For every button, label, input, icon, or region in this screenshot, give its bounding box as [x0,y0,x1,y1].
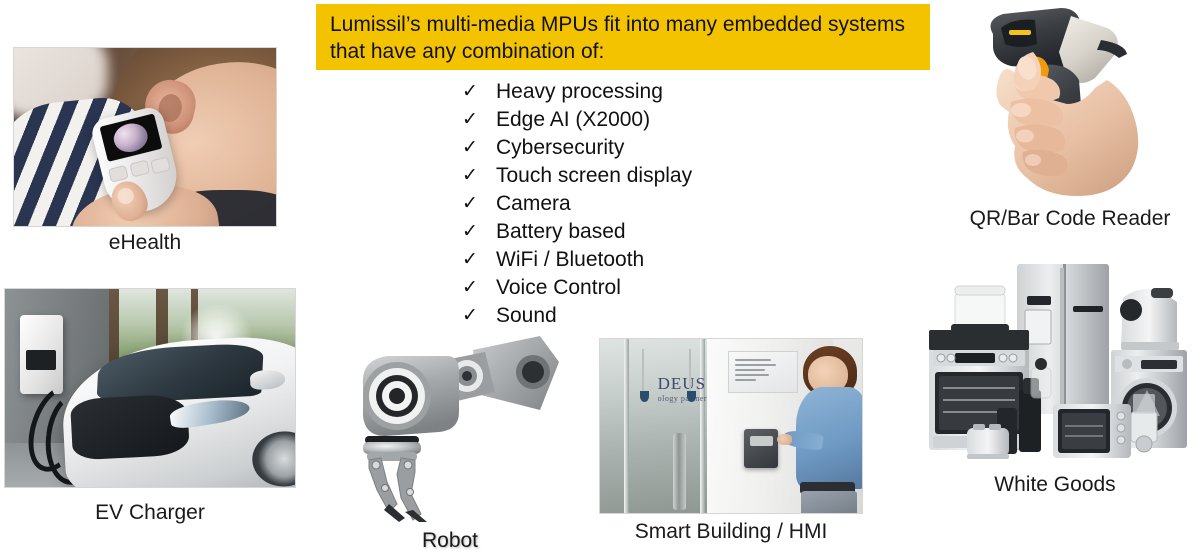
checklist-item: ✓ Touch screen display [462,162,882,190]
checklist-item: ✓ Battery based [462,218,882,246]
headline-text: Lumissil’s multi-media MPUs fit into man… [316,4,930,65]
slide-canvas: Lumissil’s multi-media MPUs fit into man… [0,0,1200,558]
smart-building-image: DEUSology partner [599,338,863,514]
checklist-item-label: Heavy processing [496,78,663,106]
check-icon: ✓ [462,106,496,134]
checklist-item: ✓ Edge AI (X2000) [462,106,882,134]
check-icon: ✓ [462,134,496,162]
appliances-illustration [915,258,1195,466]
ehealth-caption: eHealth [13,230,277,256]
robot-arm-illustration [335,332,565,522]
check-icon: ✓ [462,274,496,302]
check-icon: ✓ [462,190,496,218]
white-goods-caption: White Goods [915,472,1195,498]
checklist-item-label: Camera [496,190,571,218]
checklist-item: ✓ Cybersecurity [462,134,882,162]
checklist-item-label: Touch screen display [496,162,692,190]
checklist-item-label: Voice Control [496,274,621,302]
checklist-item: ✓ WiFi / Bluetooth [462,246,882,274]
robot-caption: Robot [335,528,565,554]
robot-image [335,332,565,522]
checklist-item: ✓ Voice Control [462,274,882,302]
check-icon: ✓ [462,218,496,246]
checklist-item: ✓ Camera [462,190,882,218]
ehealth-image [13,47,277,227]
checklist-item-label: Battery based [496,218,626,246]
checklist-item-label: Sound [496,302,557,330]
qr-reader-image [975,0,1200,205]
checklist-item-label: Cybersecurity [496,134,624,162]
qr-reader-caption: QR/Bar Code Reader [940,206,1200,232]
checklist-item-label: WiFi / Bluetooth [496,246,644,274]
headline-banner: Lumissil’s multi-media MPUs fit into man… [316,4,930,70]
feature-checklist: ✓ Heavy processing ✓ Edge AI (X2000) ✓ C… [462,78,882,330]
smart-building-caption: Smart Building / HMI [599,519,863,545]
barcode-scanner-illustration [975,0,1200,205]
access-control-panel[interactable] [744,429,778,467]
ev-charger-caption: EV Charger [4,500,296,526]
checklist-item: ✓ Heavy processing [462,78,882,106]
white-goods-image [915,258,1195,466]
lobby-signage-text: DEUSology partner [658,374,707,403]
check-icon: ✓ [462,78,496,106]
ev-charger-image [4,288,296,488]
checklist-item-label: Edge AI (X2000) [496,106,650,134]
checklist-item: ✓ Sound [462,302,882,330]
check-icon: ✓ [462,302,496,330]
check-icon: ✓ [462,246,496,274]
check-icon: ✓ [462,162,496,190]
